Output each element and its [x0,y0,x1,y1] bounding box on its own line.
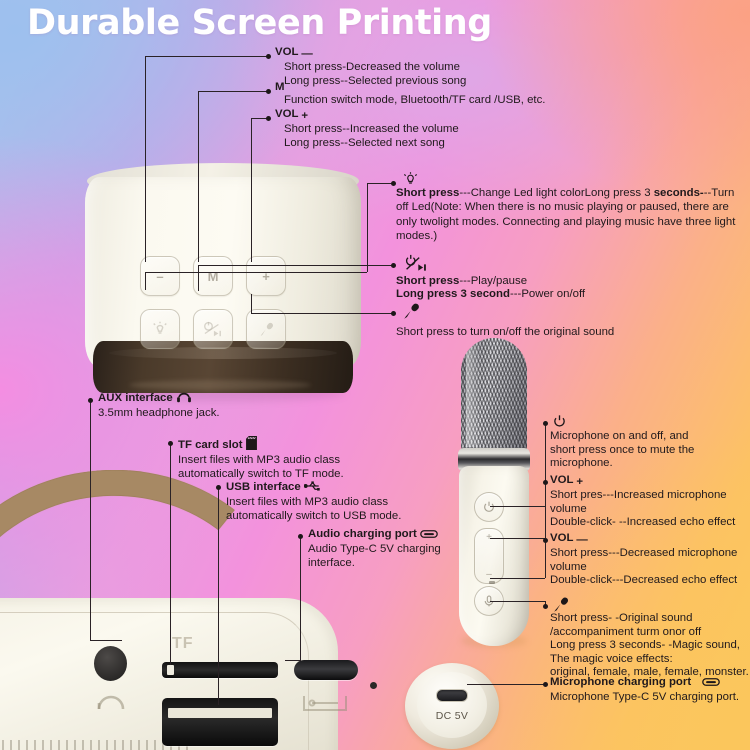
plus-icon: + [301,110,308,123]
leader-led-h2 [367,183,393,184]
leader-orig-v [251,294,252,313]
bold-phrase: Long press 3 second [396,288,510,300]
reset-pinhole [370,682,377,689]
leader-led-v [367,183,368,272]
label-text: VOL [275,108,298,120]
label-text: AUX interface [98,392,173,404]
base-sheen [129,380,311,390]
bold-phrase: Short press [396,275,459,287]
bold-phrase: Short press [396,187,459,199]
annotation-mic-vol-minus: VOL — Short press---Decreased microphone… [550,532,737,588]
dc-voltage-label: DC 5V [436,710,468,722]
leader-vol-minus-h [145,56,269,57]
leader-mic-power-h [490,506,545,507]
annotation-line: ---Power on/off [510,288,585,300]
leader-audio-charge-h [285,660,301,661]
microphone-icon [258,321,275,338]
leader-dot-orig [391,311,396,316]
annotation-mic-vol-minus-head: VOL — [550,532,737,547]
plus-icon: + [576,476,583,489]
annotation-power-play-line1: Short press---Play/pause [396,275,585,288]
annotation-line: ---Change Led light colorLong press 3 [459,187,653,199]
bulb-icon [151,320,169,338]
power-icon [482,500,496,514]
annotation-line: Short press--Increased the volume [275,123,459,137]
annotation-line: Function switch mode, Bluetooth/TF card … [275,94,545,108]
annotation-aux: AUX interface 3.5mm headphone jack. [98,392,220,421]
leader-led-stub [145,272,146,290]
headphone-icon [96,690,126,712]
annotation-line: Microphone Type-C 5V charging port. [550,691,739,705]
tf-slot-label: TF [172,635,194,653]
leader-dot-mic-vol-plus [543,480,548,485]
leader-mic-magic-h [490,601,545,602]
leader-usb-v [218,487,219,705]
leader-mic-charge-h [467,684,545,685]
label-text: Microphone charging port [550,676,691,688]
leader-dot-mic-vol-minus [543,538,548,543]
annotation-mic-vol-plus: VOL + Short pres---Increased microphone … [550,474,735,530]
leader-aux-h [90,640,122,641]
annotation-line: The magic voice effects: [550,653,749,667]
annotation-line: interface. [308,557,441,571]
mic-volume-rocker[interactable]: + – [474,528,504,584]
volume-up-label: + [262,269,270,284]
annotation-audio-charging-head: Audio charging port [308,528,441,543]
annotation-mic-magic: Short press- -Original sound /accompanim… [550,612,749,680]
label-text: TF card slot [178,439,243,451]
annotation-line: short press once to mute the [550,444,694,458]
annotation-power-play-line2: Long press 3 second---Power on/off [396,288,585,301]
type-c-icon [420,529,438,543]
leader-mic-vol-minus-h [490,578,545,579]
label-text: Audio charging port [308,528,417,540]
microphone-icon [402,302,422,325]
annotation-mode-head: M [275,81,545,94]
annotation-mic-vol-plus-head: VOL + [550,474,735,489]
annotation-power-play: Short press---Play/pause Long press 3 se… [396,275,585,301]
annotation-line: volume [550,503,735,517]
annotation-tf-card: TF card slot Insert files with MP3 audio… [178,436,344,481]
minus-icon: — [576,534,587,547]
volume-down-button[interactable]: – [140,256,180,296]
leader-dot-vol-minus [266,54,271,59]
annotation-line: Audio Type-C 5V charging [308,543,441,557]
leader-vol-plus-v [251,118,252,262]
leader-mic-vol-minus-v [545,540,546,578]
volume-down-label: – [156,269,163,284]
minus-icon: — [301,48,312,61]
annotation-mic-power: Microphone on and off, and short press o… [550,430,694,471]
mode-label: M [208,269,219,284]
annotation-line: ---Play/pause [459,275,527,287]
annotation-usb: USB interface Insert files with MP3 audi… [226,480,401,523]
annotation-line: 3.5mm headphone jack. [98,407,220,421]
tf-card-slot [162,662,278,678]
usb-port [162,698,278,746]
dc-detail-inner: DC 5V [417,672,487,738]
leader-mode-h [198,91,269,92]
leader-mic-vol-plus-v [545,482,546,538]
microphone-led-indicator [489,581,495,584]
annotation-mode: M Function switch mode, Bluetooth/TF car… [275,81,545,108]
sd-card-icon [246,436,257,454]
annotation-line: Double-click- --Increased echo effect [550,516,735,530]
annotation-vol-plus: VOL + Short press--Increased the volume … [275,108,459,150]
annotation-line: automatically switch to USB mode. [226,510,401,524]
annotation-line: Long press 3 seconds- -Magic sound, [550,639,749,653]
microphone-mesh-head [461,338,527,456]
annotation-line: Short press- -Original sound [550,612,749,626]
audio-type-c-port [294,660,358,680]
label-text: VOL [275,46,298,58]
leader-audio-charge-v [300,536,301,660]
bold-phrase: seconds- [654,187,704,199]
annotation-vol-minus-head: VOL — [275,46,466,61]
leader-mode-v [198,91,199,262]
annotation-line: Long press--Selected next song [275,137,459,151]
mode-button[interactable]: M [193,256,233,296]
leader-dot-mode [266,89,271,94]
annotation-led: Short press---Change Led light colorLong… [396,186,736,244]
infographic-canvas: Durable Screen Printing TF USB – [0,0,750,750]
leader-power-play-stub [198,265,199,291]
annotation-line: /accompaniment turm onor off [550,626,749,640]
annotation-original-sound: Short press to turn on/off the original … [396,326,614,340]
annotation-line: microphone. [550,457,694,471]
annotation-aux-head: AUX interface [98,392,220,407]
label-text: VOL [550,532,573,544]
leader-dot-vol-plus [266,116,271,121]
usb-icon [298,690,352,718]
leader-dot-usb [216,485,221,490]
power-play-button[interactable] [193,309,233,349]
usb-icon [304,480,322,496]
type-c-icon [702,677,720,691]
leader-dot-power-play [391,263,396,268]
aux-port-hole [94,646,127,681]
annotation-line: volume [550,561,737,575]
annotation-line: Double-click---Decreased echo effect [550,574,737,588]
leader-aux-v [90,400,91,640]
annotation-line: Insert files with MP3 audio class [178,454,344,468]
led-light-button[interactable] [140,309,180,349]
leader-dot-mic-magic [543,604,548,609]
original-sound-button[interactable] [246,309,286,349]
leader-vol-minus-v [145,56,146,262]
annotation-usb-head: USB interface [226,480,401,496]
leader-tf-v [170,443,171,665]
power-play-icon [403,254,430,277]
annotation-line: Microphone on and off, and [550,430,694,444]
leader-mic-vol-plus-h [490,538,545,539]
annotation-line: Short press to turn on/off the original … [396,326,614,340]
speaker-port-panel-image: TF USB [0,598,338,750]
annotation-audio-charging: Audio charging port Audio Type-C 5V char… [308,528,441,570]
leader-dot-mic-charge [543,682,548,687]
page-title: Durable Screen Printing [27,2,492,44]
annotation-mic-charging: Microphone charging port Microphone Type… [550,676,739,705]
leader-orig-h [251,313,395,314]
annotation-line: Short press-Decreased the volume [275,61,466,75]
volume-up-button[interactable]: + [246,256,286,296]
microphone-charging-port-detail: DC 5V [405,663,499,749]
label-text: USB interface [226,481,301,493]
annotation-line: Short press---Decreased microphone [550,547,737,561]
annotation-led-text: Short press---Change Led light colorLong… [396,186,736,244]
leader-dot-mic-power [543,421,548,426]
headphone-icon [176,392,192,407]
leader-dot-led [391,181,396,186]
annotation-mic-charging-head: Microphone charging port [550,676,739,691]
type-c-port [436,689,468,702]
leader-power-play-h [198,265,395,266]
leader-dot-tf [168,441,173,446]
annotation-vol-plus-head: VOL + [275,108,459,123]
mic-power-button[interactable] [474,492,504,522]
leader-led-h1 [145,272,367,273]
bluetooth-speaker-image: – M + [83,163,366,398]
leader-dot-audio-charge [298,534,303,539]
annotation-line: Short pres---Increased microphone [550,489,735,503]
leader-dot-aux [88,398,93,403]
annotation-tf-head: TF card slot [178,436,344,454]
label-text: VOL [550,474,573,486]
power-play-icon [202,320,224,338]
annotation-line: Insert files with MP3 audio class [226,496,401,510]
